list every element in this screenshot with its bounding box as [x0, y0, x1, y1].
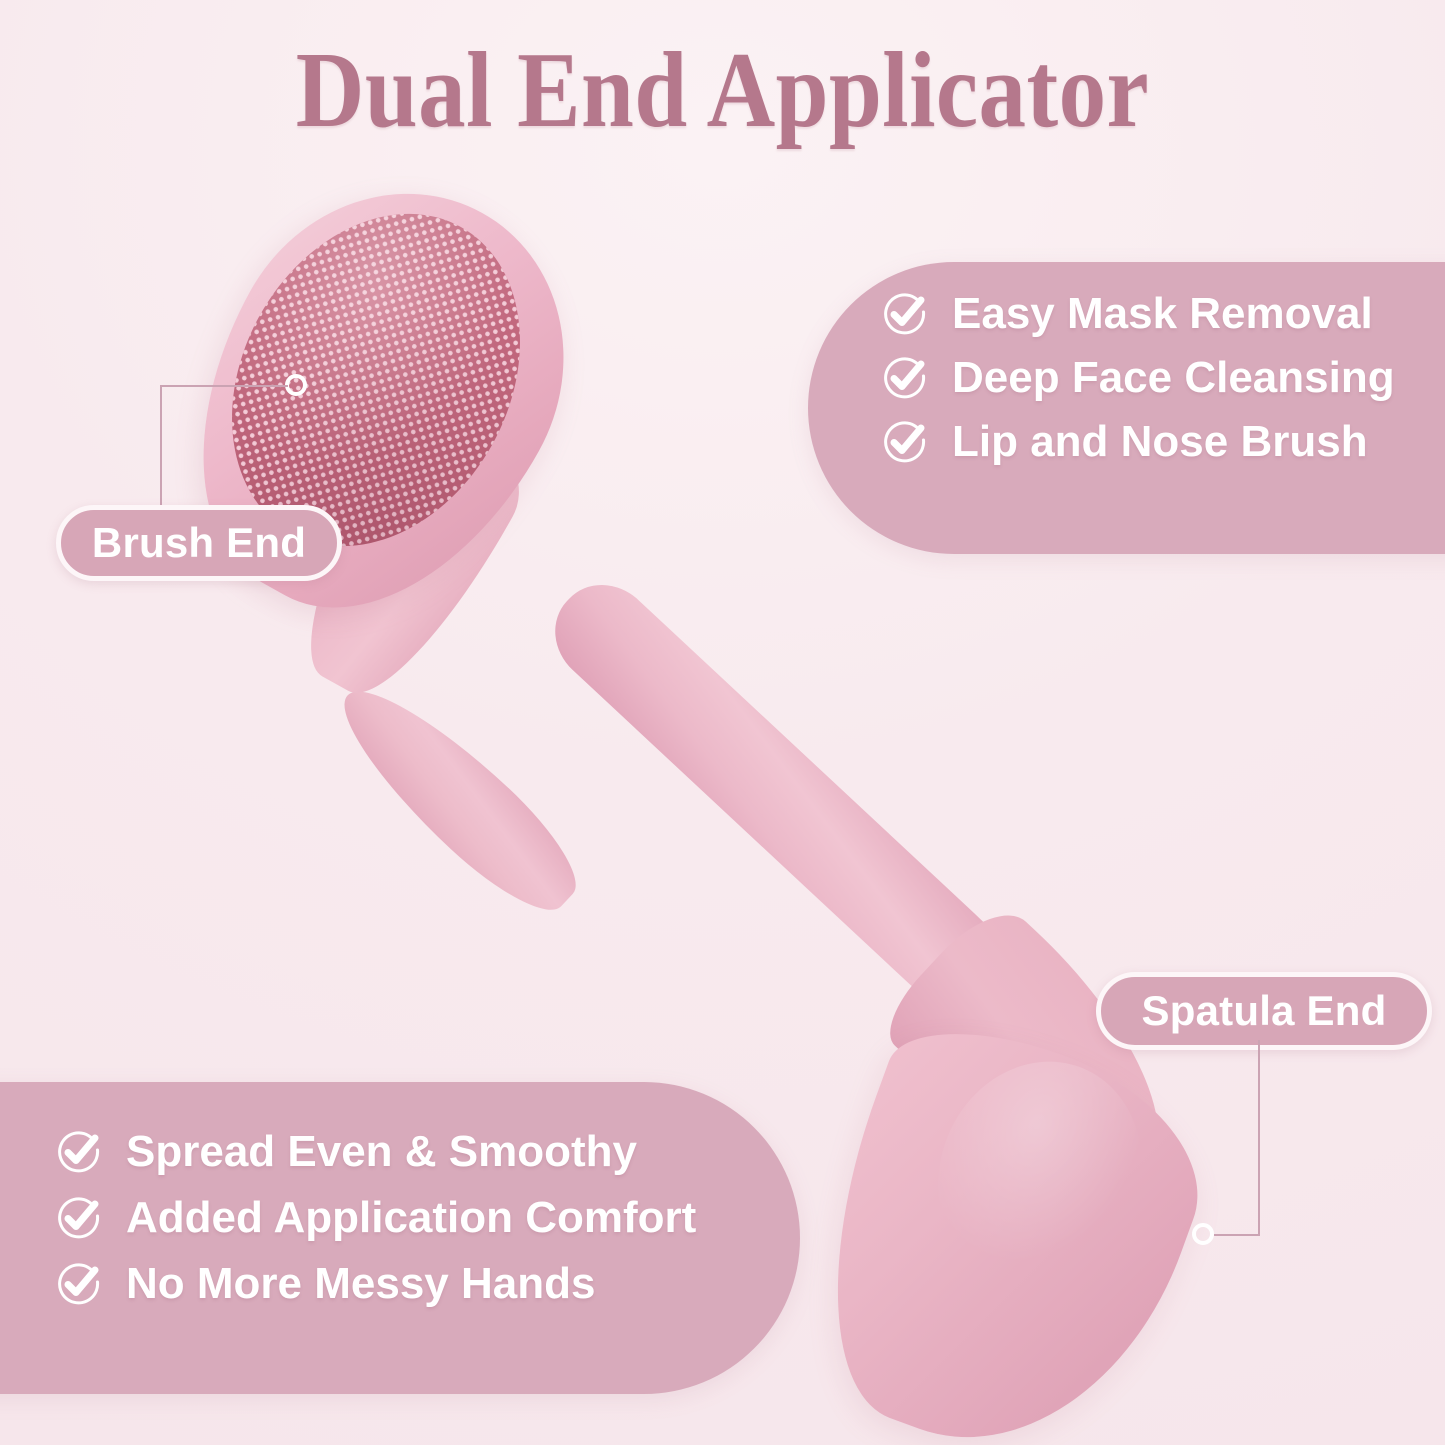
- feature-label: Deep Face Cleansing: [952, 352, 1395, 404]
- check-circle-icon: [880, 353, 930, 403]
- check-circle-icon: [880, 289, 930, 339]
- spatula-neck: [874, 894, 1216, 1230]
- brush-end-leader-horizontal: [160, 385, 288, 387]
- feature-item: Lip and Nose Brush: [880, 416, 1395, 468]
- brush-end-callout[interactable]: Brush End: [56, 505, 342, 581]
- check-circle-icon: [54, 1259, 104, 1309]
- applicator-shaft: [535, 565, 1069, 1072]
- feature-list-top-right: Easy Mask Removal Deep Face Cleansing Li…: [880, 288, 1395, 468]
- spatula-end-marker-dot: [1192, 1223, 1214, 1245]
- feature-label: Lip and Nose Brush: [952, 416, 1368, 468]
- spatula-highlight: [907, 1033, 1174, 1318]
- page-title: Dual End Applicator: [87, 34, 1359, 148]
- check-circle-icon: [880, 417, 930, 467]
- product-infographic: Dual End Applicator Brush End Spatula En…: [0, 0, 1445, 1445]
- feature-item: No More Messy Hands: [54, 1258, 696, 1310]
- feature-label: Added Application Comfort: [126, 1192, 696, 1244]
- applicator-shaft-taper: [319, 665, 596, 931]
- spatula-end-leader-vertical: [1258, 1040, 1260, 1235]
- feature-label: No More Messy Hands: [126, 1258, 595, 1310]
- feature-label: Easy Mask Removal: [952, 288, 1373, 340]
- feature-label: Spread Even & Smoothy: [126, 1126, 637, 1178]
- spatula-end-shape: [774, 1000, 1230, 1445]
- spatula-end-leader-horizontal: [1214, 1234, 1260, 1236]
- feature-item: Easy Mask Removal: [880, 288, 1395, 340]
- feature-item: Spread Even & Smoothy: [54, 1126, 696, 1178]
- brush-end-callout-label: Brush End: [92, 519, 306, 567]
- spatula-end-callout-label: Spatula End: [1142, 987, 1387, 1035]
- check-circle-icon: [54, 1127, 104, 1177]
- brush-end-marker-dot: [285, 374, 307, 396]
- brush-head-shape: [129, 133, 626, 669]
- brush-end-leader-vertical: [160, 385, 162, 507]
- feature-item: Deep Face Cleansing: [880, 352, 1395, 404]
- spatula-end-callout[interactable]: Spatula End: [1096, 972, 1432, 1050]
- feature-list-bottom-left: Spread Even & Smoothy Added Application …: [54, 1126, 696, 1310]
- feature-item: Added Application Comfort: [54, 1192, 696, 1244]
- check-circle-icon: [54, 1193, 104, 1243]
